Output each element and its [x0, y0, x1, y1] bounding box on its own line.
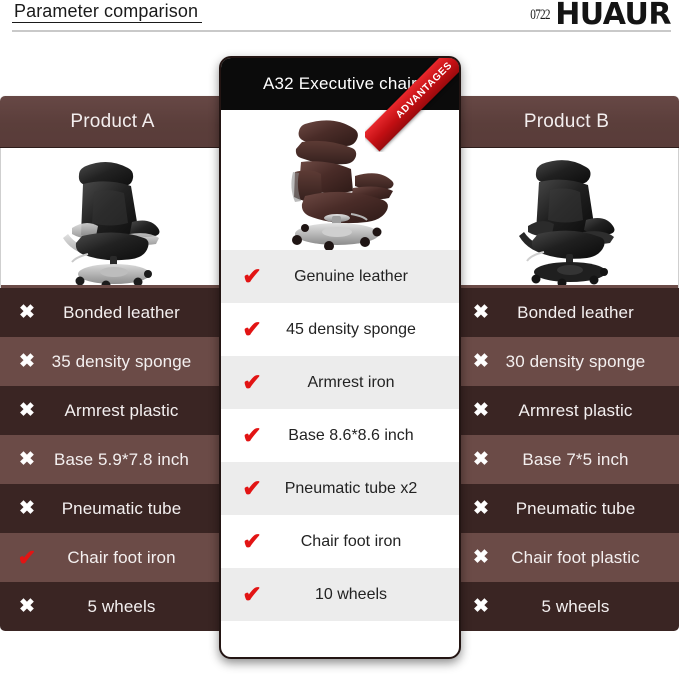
- cross-icon: ✖: [468, 352, 494, 371]
- cross-icon: ✖: [468, 548, 494, 567]
- feature-row: ✖ Bonded leather: [0, 288, 225, 337]
- feature-label: Pneumatic tube: [40, 499, 225, 519]
- feature-row: ✖ Armrest plastic: [0, 386, 225, 435]
- black-office-chair-icon: [482, 148, 652, 288]
- product-a-header: Product A: [0, 96, 225, 148]
- feature-label: 30 density sponge: [494, 352, 679, 372]
- feature-row: ✖ Bonded leather: [454, 288, 679, 337]
- featured-product-title: A32 Executive chair: [263, 74, 417, 94]
- cross-icon: ✖: [14, 352, 40, 371]
- feature-row: ✖ Chair foot plastic: [454, 533, 679, 582]
- feature-row: ✖ Pneumatic tube: [0, 484, 225, 533]
- feature-row: ✖ 35 density sponge: [0, 337, 225, 386]
- brand-sub-number: 0722: [530, 7, 550, 24]
- cross-icon: ✖: [468, 450, 494, 469]
- featured-product-card: A32 Executive chair ADVANTAGES: [219, 56, 461, 659]
- check-icon: ✔: [237, 265, 267, 288]
- feature-label: Chair foot iron: [40, 548, 225, 568]
- feature-label: 5 wheels: [494, 597, 679, 617]
- feature-label: Base 5.9*7.8 inch: [40, 450, 225, 470]
- feature-row: ✔ 10 wheels: [221, 568, 459, 621]
- product-b-title: Product B: [524, 111, 609, 133]
- cross-icon: ✖: [14, 597, 40, 616]
- brand-logo: 0722 HUAUR: [527, 0, 671, 30]
- feature-row: ✔ Armrest iron: [221, 356, 459, 409]
- cross-icon: ✖: [468, 401, 494, 420]
- product-a-title: Product A: [70, 111, 154, 133]
- feature-label: Chair foot plastic: [494, 548, 679, 568]
- feature-label: Genuine leather: [267, 268, 459, 286]
- cross-icon: ✖: [14, 401, 40, 420]
- feature-row: ✔ Chair foot iron: [0, 533, 225, 582]
- brand-name: HUAUR: [555, 0, 671, 30]
- feature-row: ✔ Chair foot iron: [221, 515, 459, 568]
- feature-label: 35 density sponge: [40, 352, 225, 372]
- product-a-image: [0, 148, 225, 288]
- check-icon: ✔: [237, 371, 267, 394]
- feature-label: 45 density sponge: [267, 321, 459, 339]
- product-a-column: Product A: [0, 96, 225, 631]
- product-b-column: Product B ✖: [454, 96, 679, 631]
- cross-icon: ✖: [14, 450, 40, 469]
- feature-label: 5 wheels: [40, 597, 225, 617]
- product-a-feature-list: ✖ Bonded leather ✖ 35 density sponge ✖ A…: [0, 288, 225, 631]
- feature-row: ✔ Pneumatic tube x2: [221, 462, 459, 515]
- black-office-chair-icon: [28, 148, 198, 288]
- feature-label: Base 8.6*8.6 inch: [267, 427, 459, 445]
- feature-label: Base 7*5 inch: [494, 450, 679, 470]
- feature-label: Pneumatic tube x2: [267, 480, 459, 498]
- check-icon: ✔: [237, 424, 267, 447]
- product-b-header: Product B: [454, 96, 679, 148]
- feature-row: ✖ Armrest plastic: [454, 386, 679, 435]
- feature-label: Bonded leather: [40, 303, 225, 323]
- feature-row: ✖ 5 wheels: [454, 582, 679, 631]
- feature-label: Chair foot iron: [267, 533, 459, 551]
- page-header: Parameter comparison 0722 HUAUR: [0, 0, 679, 34]
- cross-icon: ✖: [468, 303, 494, 322]
- header-divider: [12, 30, 671, 32]
- feature-row: ✖ Pneumatic tube: [454, 484, 679, 533]
- cross-icon: ✖: [468, 597, 494, 616]
- product-b-image: [454, 148, 679, 288]
- brown-executive-chair-icon: [247, 110, 433, 250]
- check-icon: ✔: [237, 477, 267, 500]
- cross-icon: ✖: [14, 499, 40, 518]
- feature-row: ✔ Base 8.6*8.6 inch: [221, 409, 459, 462]
- cross-icon: ✖: [14, 303, 40, 322]
- check-icon: ✔: [237, 530, 267, 553]
- feature-label: Pneumatic tube: [494, 499, 679, 519]
- feature-label: Armrest plastic: [494, 401, 679, 421]
- cross-icon: ✖: [468, 499, 494, 518]
- product-b-feature-list: ✖ Bonded leather ✖ 30 density sponge ✖ A…: [454, 288, 679, 631]
- feature-row: ✖ Base 7*5 inch: [454, 435, 679, 484]
- check-icon: ✔: [14, 547, 40, 569]
- featured-product-header: A32 Executive chair ADVANTAGES: [221, 58, 459, 110]
- check-icon: ✔: [237, 318, 267, 341]
- feature-label: 10 wheels: [267, 586, 459, 604]
- feature-label: Armrest plastic: [40, 401, 225, 421]
- feature-label: Armrest iron: [267, 374, 459, 392]
- feature-label: Bonded leather: [494, 303, 679, 323]
- featured-product-image: [221, 110, 459, 250]
- feature-row: ✔ 45 density sponge: [221, 303, 459, 356]
- feature-row: ✔ Genuine leather: [221, 250, 459, 303]
- check-icon: ✔: [237, 583, 267, 606]
- feature-row: ✖ 5 wheels: [0, 582, 225, 631]
- title-underline: [12, 22, 202, 23]
- feature-row: ✖ 30 density sponge: [454, 337, 679, 386]
- page-title: Parameter comparison: [14, 1, 198, 22]
- feature-row: ✖ Base 5.9*7.8 inch: [0, 435, 225, 484]
- featured-feature-list: ✔ Genuine leather ✔ 45 density sponge ✔ …: [221, 250, 459, 621]
